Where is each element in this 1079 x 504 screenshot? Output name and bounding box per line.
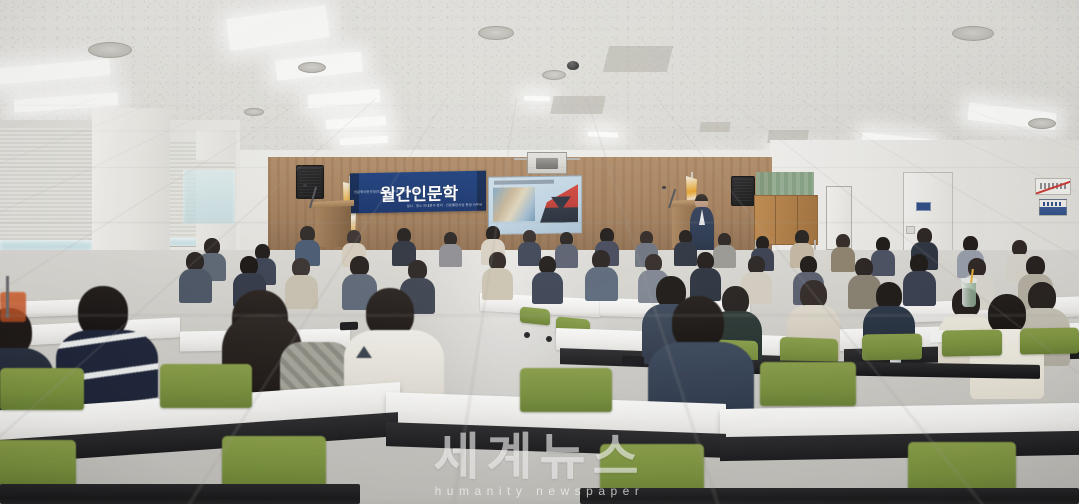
chair (1020, 327, 1079, 354)
attendee-torso (555, 244, 578, 268)
attendee-head (988, 294, 1026, 334)
chair (160, 364, 252, 408)
downlight (478, 26, 514, 40)
chair (0, 368, 84, 410)
attendee-torso (532, 272, 563, 304)
downlight (88, 42, 132, 58)
attendee-head (408, 260, 427, 280)
attendee-head (1026, 256, 1045, 276)
attendee-torso (482, 268, 513, 300)
attendee-torso (585, 267, 618, 301)
chair-seat-foreground (580, 488, 1079, 504)
chair (520, 368, 612, 412)
aisle-stool (0, 292, 26, 322)
ceiling-vent (603, 46, 673, 72)
chair-foreground (222, 436, 326, 490)
cup-lid (961, 278, 977, 283)
lecture-hall-photo: 월간인문학 인문학이란무엇인가 주최 · 주관 한국인문협회 일시 · 장소 안… (0, 0, 1079, 504)
floor-stand (6, 276, 9, 318)
attendee-torso (285, 275, 318, 309)
chair-seat-foreground (0, 484, 360, 504)
attendee-torso (713, 245, 736, 268)
downlight (542, 70, 566, 80)
attendee-head (350, 256, 369, 276)
smartphone (622, 355, 644, 366)
attendee-torso (439, 244, 462, 267)
chair (760, 362, 856, 406)
attendee-torso (179, 269, 212, 303)
security-camera-icon (567, 61, 579, 70)
attendee-torso (831, 247, 855, 272)
attendee-torso (903, 271, 936, 306)
attendee-torso (674, 242, 697, 266)
iced-beverage-cup (962, 281, 976, 307)
attendee-torso (518, 242, 541, 266)
chair-caster (524, 332, 530, 338)
chair (520, 306, 550, 325)
attendee-torso (871, 250, 895, 276)
chair (942, 329, 1002, 356)
smartphone (340, 322, 358, 331)
chair-caster (546, 336, 552, 342)
downlight (952, 26, 994, 41)
downlight (298, 62, 326, 73)
chair (862, 333, 922, 360)
chair-foreground (0, 440, 76, 490)
